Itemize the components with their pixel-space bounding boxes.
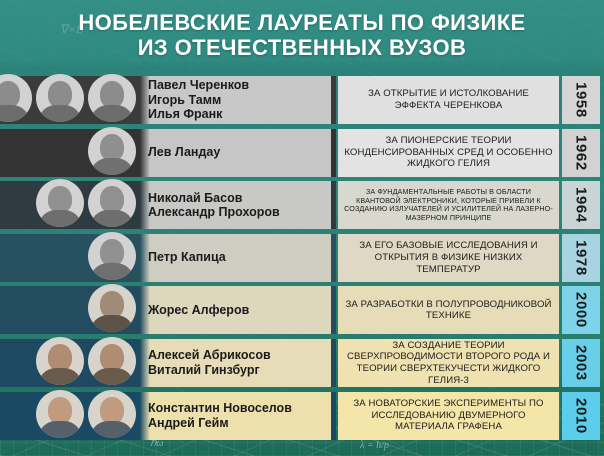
laureate-name: Лев Ландау — [148, 145, 220, 160]
laureate-names: Константин НовоселовАндрей Гейм — [148, 401, 292, 430]
title-line-2: ИЗ ОТЕЧЕСТВЕННЫХ ВУЗОВ — [138, 35, 467, 60]
award-reason-text: ЗА СОЗДАНИЕ ТЕОРИИ СВЕРХПРОВОДИМОСТИ ВТО… — [338, 340, 559, 386]
award-reason-panel: ЗА ПИОНЕРСКИЕ ТЕОРИИ КОНДЕНСИРОВАННЫХ СР… — [338, 129, 559, 177]
award-reason-panel: ЗА ЕГО БАЗОВЫЕ ИССЛЕДОВАНИЯ И ОТКРЫТИЯ В… — [338, 234, 559, 282]
laureate-name: Петр Капица — [148, 250, 226, 265]
laureate-row: Константин НовоселовАндрей ГеймЗА НОВАТО… — [0, 390, 604, 443]
portrait-group — [88, 284, 140, 332]
poster-header: НОБЕЛЕВСКИЕ ЛАУРЕАТЫ ПО ФИЗИКЕ ИЗ ОТЕЧЕС… — [0, 0, 604, 70]
laureate-portrait — [88, 127, 136, 175]
infographic-poster: E=mc² ℏω ∫ψ dx λ = h/p F = ma ∇×B Δx·Δp … — [0, 0, 604, 456]
year-badge: 2000 — [562, 286, 600, 334]
name-panel: Лев Ландау — [0, 129, 331, 177]
year-badge: 2010 — [562, 392, 600, 440]
laureate-names: Жорес Алферов — [148, 303, 249, 318]
year-badge: 2003 — [562, 339, 600, 387]
year-label: 2003 — [573, 345, 590, 381]
laureate-name: Николай Басов — [148, 191, 280, 206]
award-reason-panel: ЗА ОТКРЫТИЕ И ИСТОЛКОВАНИЕ ЭФФЕКТА ЧЕРЕН… — [338, 76, 559, 124]
award-reason-panel: ЗА ФУНДАМЕНТАЛЬНЫЕ РАБОТЫ В ОБЛАСТИ КВАН… — [338, 181, 559, 229]
laureate-portrait — [0, 74, 32, 122]
laureate-names: Петр Капица — [148, 250, 226, 265]
year-label: 1978 — [573, 240, 590, 276]
portrait-group — [36, 179, 140, 227]
year-label: 2000 — [573, 292, 590, 328]
year-label: 1962 — [573, 135, 590, 171]
portrait-group — [88, 232, 140, 280]
portrait-group — [0, 74, 140, 122]
laureate-row: Лев ЛандауЗА ПИОНЕРСКИЕ ТЕОРИИ КОНДЕНСИР… — [0, 127, 604, 180]
laureate-rows: Павел ЧеренковИгорь ТаммИлья ФранкЗА ОТК… — [0, 74, 604, 442]
laureate-portrait — [88, 179, 136, 227]
year-label: 2010 — [573, 398, 590, 434]
portrait-group — [36, 390, 140, 438]
laureate-name: Александр Прохоров — [148, 205, 280, 220]
award-reason-text: ЗА НОВАТОРСКИЕ ЭКСПЕРИМЕНТЫ ПО ИССЛЕДОВА… — [338, 398, 559, 433]
portrait-group — [88, 127, 140, 175]
laureate-name: Андрей Гейм — [148, 416, 292, 431]
award-reason-panel: ЗА РАЗРАБОТКИ В ПОЛУПРОВОДНИКОВОЙ ТЕХНИК… — [338, 286, 559, 334]
laureate-portrait — [88, 74, 136, 122]
laureate-row: Петр КапицаЗА ЕГО БАЗОВЫЕ ИССЛЕДОВАНИЯ И… — [0, 232, 604, 285]
laureate-portrait — [88, 284, 136, 332]
laureate-portrait — [36, 390, 84, 438]
portrait-group — [36, 337, 140, 385]
laureate-row: Николай БасовАлександр ПрохоровЗА ФУНДАМ… — [0, 179, 604, 232]
award-reason-panel: ЗА НОВАТОРСКИЕ ЭКСПЕРИМЕНТЫ ПО ИССЛЕДОВА… — [338, 392, 559, 440]
year-badge: 1964 — [562, 181, 600, 229]
page-title: НОБЕЛЕВСКИЕ ЛАУРЕАТЫ ПО ФИЗИКЕ ИЗ ОТЕЧЕС… — [78, 10, 525, 60]
year-badge: 1978 — [562, 234, 600, 282]
award-reason-text: ЗА ОТКРЫТИЕ И ИСТОЛКОВАНИЕ ЭФФЕКТА ЧЕРЕН… — [338, 88, 559, 111]
laureate-name: Илья Франк — [148, 107, 249, 122]
laureate-names: Лев Ландау — [148, 145, 220, 160]
laureate-name: Виталий Гинзбург — [148, 363, 271, 378]
laureate-names: Павел ЧеренковИгорь ТаммИлья Франк — [148, 78, 249, 122]
laureate-row: Жорес АлферовЗА РАЗРАБОТКИ В ПОЛУПРОВОДН… — [0, 284, 604, 337]
laureate-portrait — [36, 74, 84, 122]
laureate-names: Николай БасовАлександр Прохоров — [148, 191, 280, 220]
award-reason-text: ЗА ПИОНЕРСКИЕ ТЕОРИИ КОНДЕНСИРОВАННЫХ СР… — [338, 135, 559, 170]
year-badge: 1958 — [562, 76, 600, 124]
laureate-portrait — [36, 337, 84, 385]
laureate-name: Константин Новоселов — [148, 401, 292, 416]
laureate-row: Алексей АбрикосовВиталий ГинзбургЗА СОЗД… — [0, 337, 604, 390]
laureate-portrait — [88, 337, 136, 385]
laureate-name: Жорес Алферов — [148, 303, 249, 318]
award-reason-text: ЗА ЕГО БАЗОВЫЕ ИССЛЕДОВАНИЯ И ОТКРЫТИЯ В… — [338, 240, 559, 275]
award-reason-text: ЗА РАЗРАБОТКИ В ПОЛУПРОВОДНИКОВОЙ ТЕХНИК… — [338, 299, 559, 322]
year-badge: 1962 — [562, 129, 600, 177]
laureate-portrait — [36, 179, 84, 227]
title-line-1: НОБЕЛЕВСКИЕ ЛАУРЕАТЫ ПО ФИЗИКЕ — [78, 10, 525, 35]
laureate-portrait — [88, 232, 136, 280]
laureate-name: Игорь Тамм — [148, 93, 249, 108]
award-reason-text: ЗА ФУНДАМЕНТАЛЬНЫЕ РАБОТЫ В ОБЛАСТИ КВАН… — [338, 188, 559, 222]
laureate-portrait — [88, 390, 136, 438]
name-panel: Петр Капица — [0, 234, 331, 282]
year-label: 1958 — [573, 82, 590, 118]
award-reason-panel: ЗА СОЗДАНИЕ ТЕОРИИ СВЕРХПРОВОДИМОСТИ ВТО… — [338, 339, 559, 387]
laureate-name: Павел Черенков — [148, 78, 249, 93]
name-panel: Жорес Алферов — [0, 286, 331, 334]
year-label: 1964 — [573, 187, 590, 223]
laureate-row: Павел ЧеренковИгорь ТаммИлья ФранкЗА ОТК… — [0, 74, 604, 127]
laureate-names: Алексей АбрикосовВиталий Гинзбург — [148, 348, 271, 377]
laureate-name: Алексей Абрикосов — [148, 348, 271, 363]
